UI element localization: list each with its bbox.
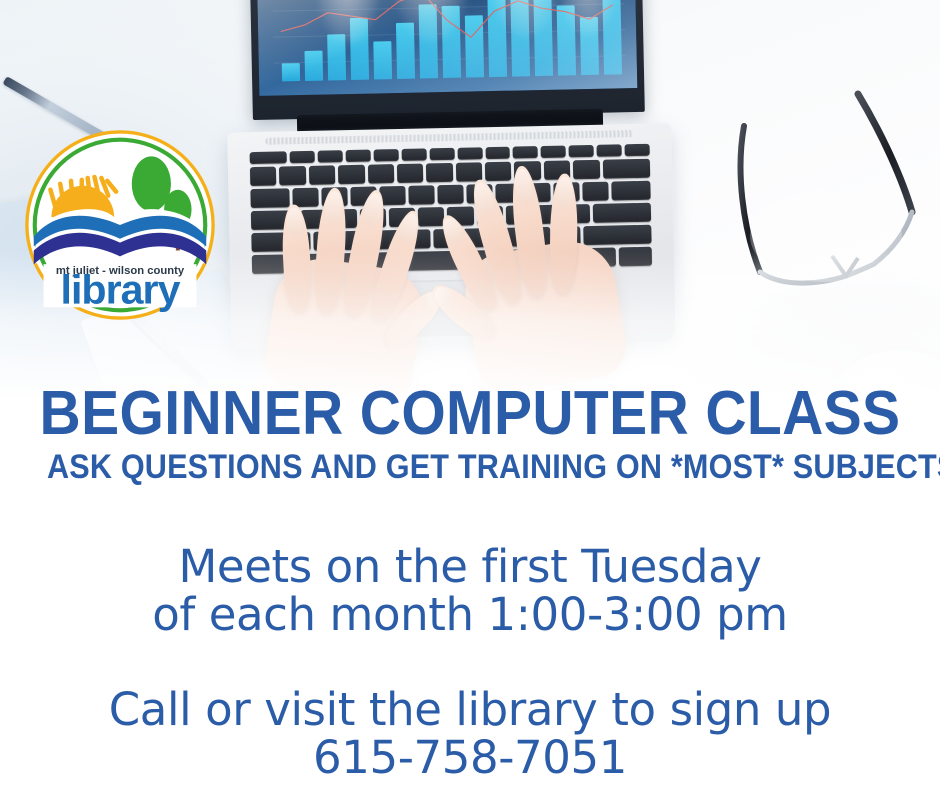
schedule-line-1: Meets on the first Tuesday <box>0 543 940 592</box>
flyer-text: BEGINNER COMPUTER CLASS ASK QUESTIONS AN… <box>0 382 940 783</box>
screen-glare <box>256 0 637 96</box>
laptop-lid <box>250 0 645 120</box>
laptop-screen <box>256 0 637 96</box>
page-title: BEGINNER COMPUTER CLASS <box>38 382 903 445</box>
library-logo: mt juliet - wilson county library <box>22 127 218 323</box>
logo-wordmark: library <box>61 266 181 312</box>
flyer-canvas: mt juliet - wilson county library BEGINN… <box>0 0 940 788</box>
signup-line-1: Call or visit the library to sign up <box>0 686 940 735</box>
schedule-line-2: of each month 1:00-3:00 pm <box>0 591 940 640</box>
signup-text: Call or visit the library to sign up 615… <box>0 686 940 783</box>
page-subtitle: ASK QUESTIONS AND GET TRAINING ON *MOST*… <box>47 449 893 486</box>
schedule-text: Meets on the first Tuesday of each month… <box>0 543 940 640</box>
phone-number[interactable]: 615-758-7051 <box>0 734 940 783</box>
